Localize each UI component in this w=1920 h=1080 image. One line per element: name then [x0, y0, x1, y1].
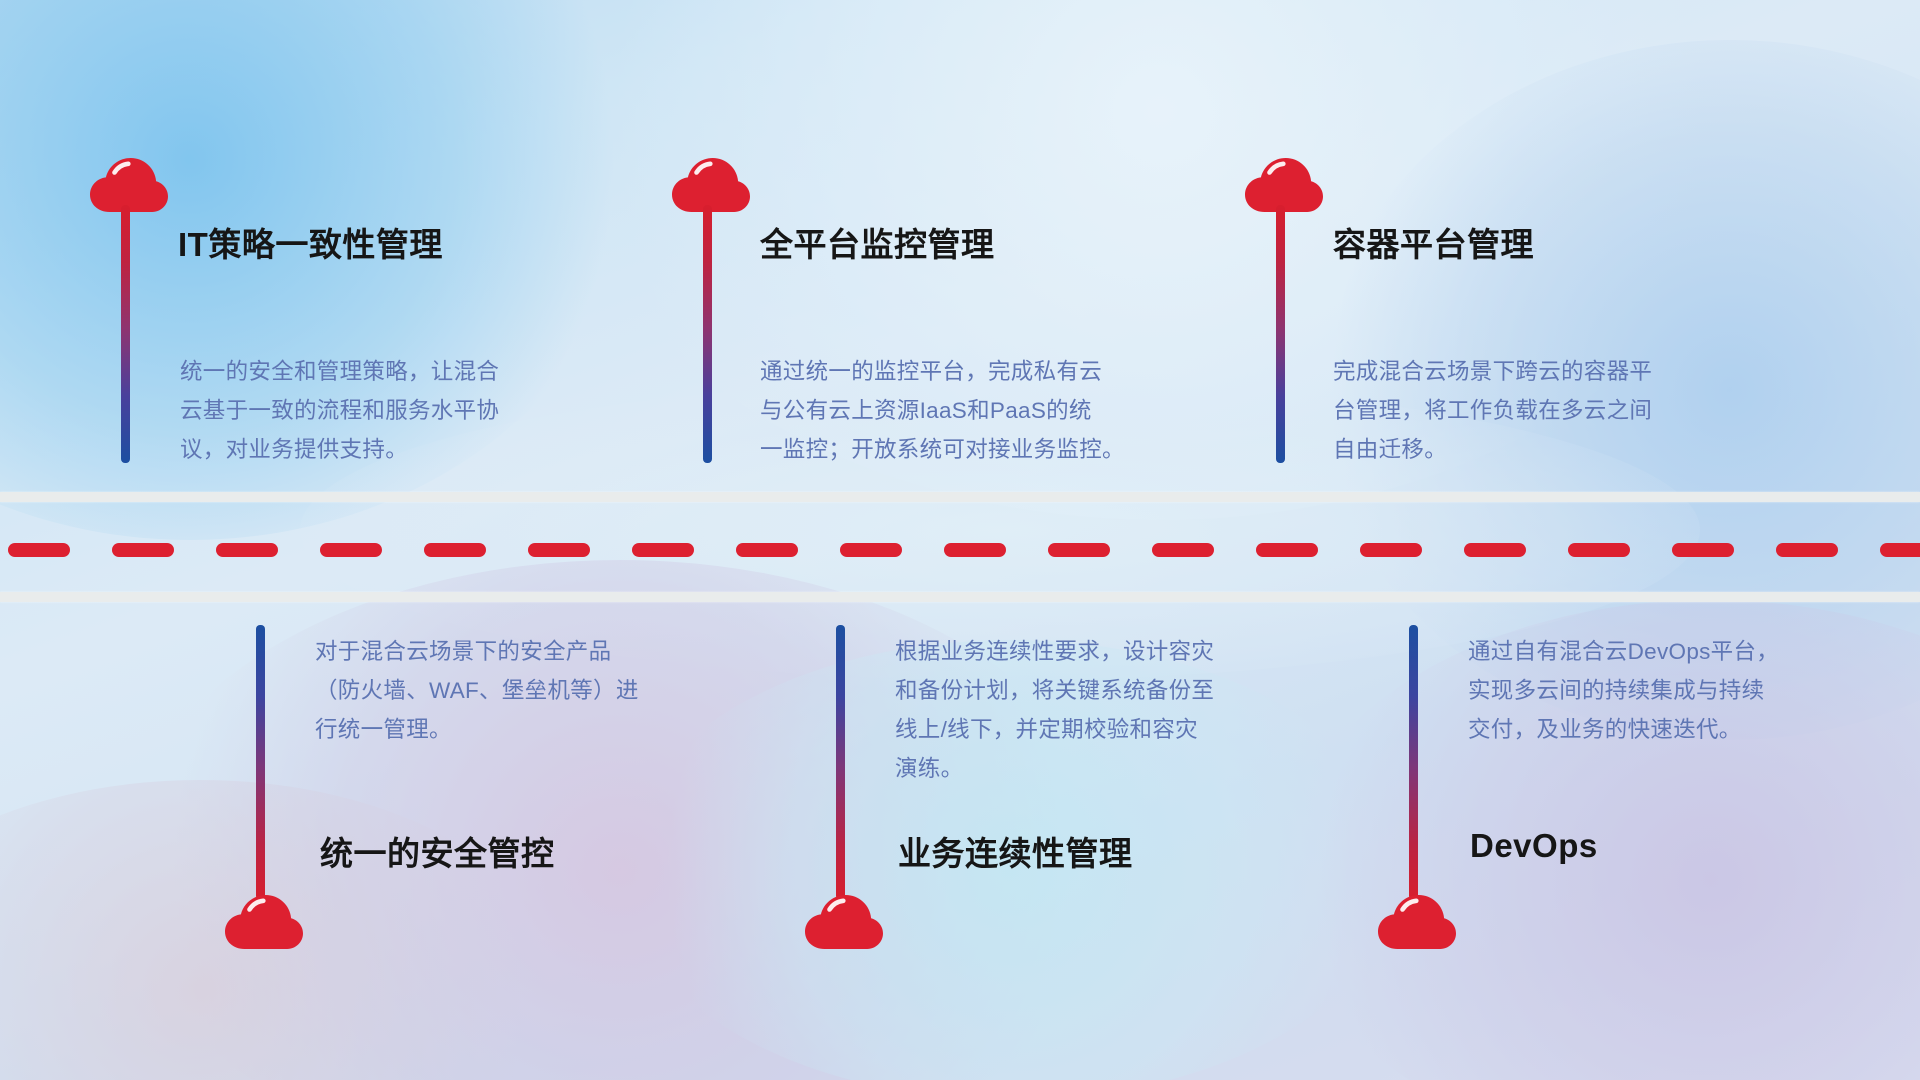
card-title: 全平台监控管理	[760, 218, 995, 266]
road-dash	[632, 543, 694, 557]
card-description: 对于混合云场景下的安全产品 （防火墙、WAF、堡垒机等）进 行统一管理。	[315, 632, 639, 749]
road-dash	[736, 543, 798, 557]
road-dash	[1360, 543, 1422, 557]
card-title: IT策略一致性管理	[178, 218, 443, 266]
description-line: 一监控；开放系统可对接业务监控。	[760, 430, 1125, 469]
description-line: 云基于一致的流程和服务水平协	[180, 391, 499, 430]
card-title: 业务连续性管理	[898, 827, 1133, 875]
infographic-canvas: IT策略一致性管理 统一的安全和管理策略，让混合 云基于一致的流程和服务水平协 …	[0, 0, 1920, 1080]
description-line: 根据业务连续性要求，设计容灾	[895, 632, 1214, 671]
road-dash	[944, 543, 1006, 557]
road-dash	[8, 543, 70, 557]
road-dash	[1672, 543, 1734, 557]
description-line: 统一的安全和管理策略，让混合	[180, 352, 499, 391]
road-dash	[528, 543, 590, 557]
card-description: 统一的安全和管理策略，让混合 云基于一致的流程和服务水平协 议，对业务提供支持。	[180, 352, 499, 469]
description-line: 通过统一的监控平台，完成私有云	[760, 352, 1125, 391]
cloud-icon	[805, 895, 883, 951]
connector-stem	[121, 205, 130, 463]
description-line: 自由迁移。	[1333, 430, 1652, 469]
connector-stem	[836, 625, 845, 900]
description-line: 演练。	[895, 749, 1214, 788]
description-line: 完成混合云场景下跨云的容器平	[1333, 352, 1652, 391]
cloud-icon	[1378, 895, 1456, 951]
description-line: 和备份计划，将关键系统备份至	[895, 671, 1214, 710]
road-dash	[1152, 543, 1214, 557]
road-dash	[1776, 543, 1838, 557]
card-description: 完成混合云场景下跨云的容器平 台管理，将工作负载在多云之间 自由迁移。	[1333, 352, 1652, 469]
card-description: 根据业务连续性要求，设计容灾 和备份计划，将关键系统备份至 线上/线下，并定期校…	[895, 632, 1214, 788]
description-line: 实现多云间的持续集成与持续	[1468, 671, 1779, 710]
description-line: 行统一管理。	[315, 710, 639, 749]
description-line: 线上/线下，并定期校验和容灾	[895, 710, 1214, 749]
card-title: DevOps	[1470, 827, 1598, 865]
card-description: 通过统一的监控平台，完成私有云 与公有云上资源IaaS和PaaS的统 一监控；开…	[760, 352, 1125, 469]
road-rail-bottom	[0, 592, 1920, 602]
road-dash	[1256, 543, 1318, 557]
cloud-icon	[225, 895, 303, 951]
road-dash	[840, 543, 902, 557]
description-line: 对于混合云场景下的安全产品	[315, 632, 639, 671]
road-dash	[216, 543, 278, 557]
connector-stem	[256, 625, 265, 900]
description-line: 通过自有混合云DevOps平台，	[1468, 632, 1779, 671]
road-dash	[112, 543, 174, 557]
road-rail-top	[0, 492, 1920, 502]
road-center-dashes	[0, 543, 1920, 557]
connector-stem	[1409, 625, 1418, 900]
description-line: 交付，及业务的快速迭代。	[1468, 710, 1779, 749]
connector-stem	[1276, 205, 1285, 463]
card-title: 容器平台管理	[1333, 218, 1534, 266]
description-line: 与公有云上资源IaaS和PaaS的统	[760, 391, 1125, 430]
road-dash	[1568, 543, 1630, 557]
card-description: 通过自有混合云DevOps平台， 实现多云间的持续集成与持续 交付，及业务的快速…	[1468, 632, 1779, 749]
card-title: 统一的安全管控	[320, 827, 555, 875]
description-line: （防火墙、WAF、堡垒机等）进	[315, 671, 639, 710]
road-dash	[1048, 543, 1110, 557]
road-dash	[424, 543, 486, 557]
description-line: 议，对业务提供支持。	[180, 430, 499, 469]
road-dash	[1880, 543, 1920, 557]
description-line: 台管理，将工作负载在多云之间	[1333, 391, 1652, 430]
road-dash	[320, 543, 382, 557]
road-dash	[1464, 543, 1526, 557]
connector-stem	[703, 205, 712, 463]
